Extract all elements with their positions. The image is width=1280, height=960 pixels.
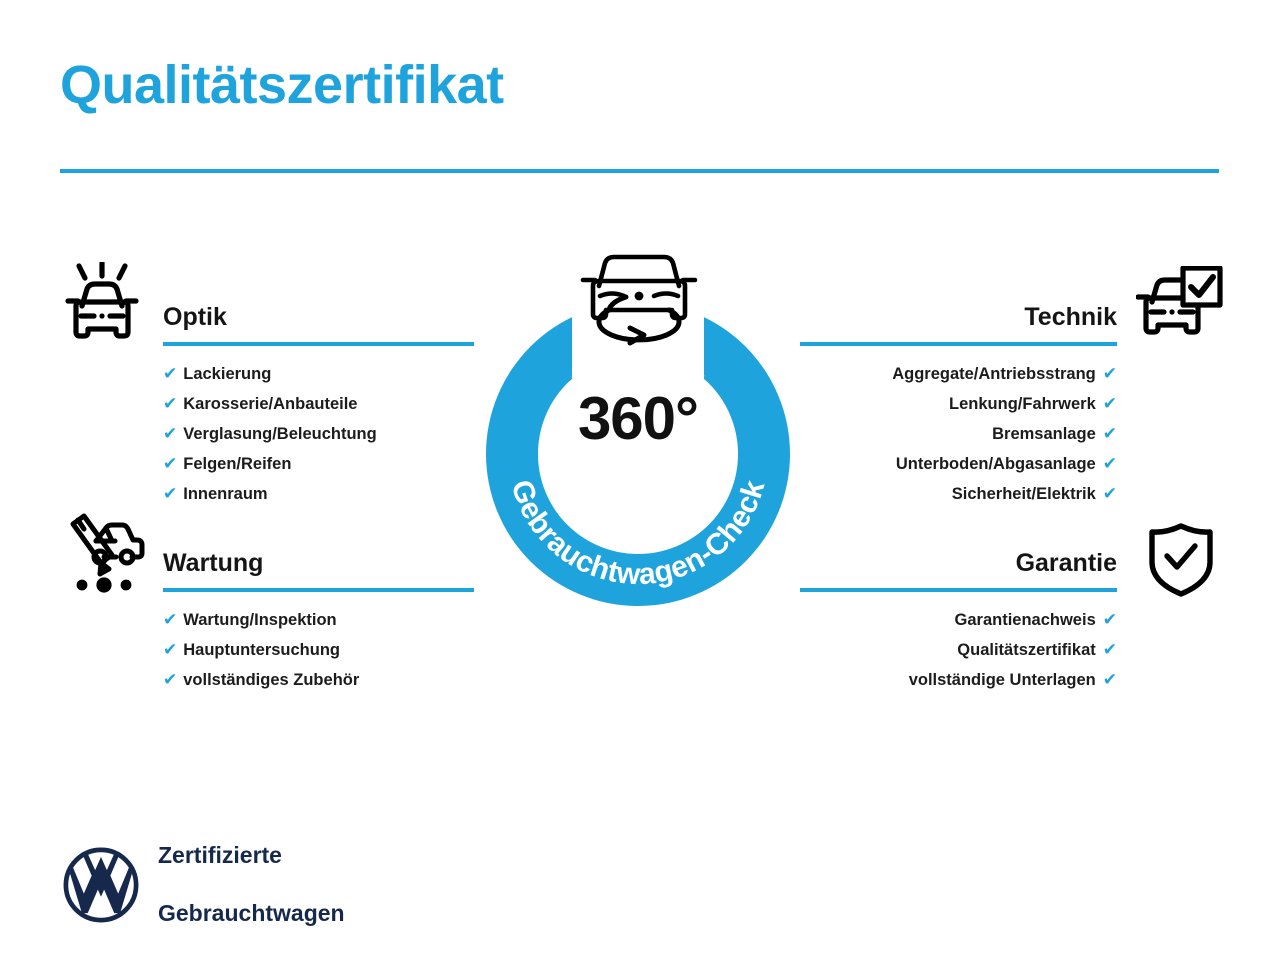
list-item-label: Lackierung bbox=[183, 365, 271, 383]
vw-wordmark: Zertifizierte Gebrauchtwagen bbox=[158, 812, 345, 957]
check-icon: ✔ bbox=[163, 454, 177, 473]
check-icon: ✔ bbox=[163, 610, 177, 629]
section-garantie-list: Garantienachweis✔ Qualitätszertifikat✔ v… bbox=[800, 605, 1117, 695]
section-optik-list: ✔Lackierung ✔Karosserie/Anbauteile ✔Verg… bbox=[163, 359, 474, 509]
list-item: Garantienachweis✔ bbox=[800, 605, 1117, 635]
check-icon: ✔ bbox=[1103, 484, 1117, 503]
list-item-label: Wartung/Inspektion bbox=[183, 611, 336, 629]
check-icon: ✔ bbox=[1103, 670, 1117, 689]
check-icon: ✔ bbox=[1103, 394, 1117, 413]
list-item: ✔Verglasung/Beleuchtung bbox=[163, 419, 474, 449]
section-garantie-divider bbox=[800, 588, 1117, 592]
list-item: ✔Wartung/Inspektion bbox=[163, 605, 474, 635]
volkswagen-logo bbox=[62, 846, 140, 924]
list-item: Aggregate/Antriebsstrang✔ bbox=[800, 359, 1117, 389]
section-garantie-title: Garantie bbox=[800, 546, 1117, 580]
section-technik: Technik Aggregate/Antriebsstrang✔ Lenkun… bbox=[800, 300, 1117, 509]
badge-arc-text: Gebrauchtwagen-Check bbox=[504, 476, 771, 592]
section-optik: Optik ✔Lackierung ✔Karosserie/Anbauteile… bbox=[163, 300, 474, 509]
list-item: Unterboden/Abgasanlage✔ bbox=[800, 449, 1117, 479]
check-icon: ✔ bbox=[163, 424, 177, 443]
list-item: ✔Lackierung bbox=[163, 359, 474, 389]
section-wartung: Wartung ✔Wartung/Inspektion ✔Hauptunters… bbox=[163, 546, 474, 695]
section-technik-list: Aggregate/Antriebsstrang✔ Lenkung/Fahrwe… bbox=[800, 359, 1117, 509]
car-shine-icon bbox=[58, 262, 146, 351]
section-wartung-list: ✔Wartung/Inspektion ✔Hauptuntersuchung ✔… bbox=[163, 605, 474, 695]
list-item-label: Lenkung/Fahrwerk bbox=[949, 395, 1096, 413]
section-technik-header: Technik bbox=[800, 300, 1117, 346]
list-item: Qualitätszertifikat✔ bbox=[800, 635, 1117, 665]
check-icon: ✔ bbox=[1103, 424, 1117, 443]
list-item: ✔vollständiges Zubehör bbox=[163, 665, 474, 695]
list-item-label: Karosserie/Anbauteile bbox=[183, 395, 357, 413]
list-item: ✔Felgen/Reifen bbox=[163, 449, 474, 479]
list-item-label: Innenraum bbox=[183, 485, 267, 503]
list-item-label: Felgen/Reifen bbox=[183, 455, 291, 473]
section-optik-header: Optik bbox=[163, 300, 474, 346]
check-icon: ✔ bbox=[163, 484, 177, 503]
car-checkbox-icon bbox=[1136, 266, 1224, 349]
section-technik-divider bbox=[800, 342, 1117, 346]
vw-certified-lockup: Zertifizierte Gebrauchtwagen bbox=[62, 812, 345, 957]
check-icon: ✔ bbox=[163, 670, 177, 689]
shield-check-icon bbox=[1148, 522, 1214, 603]
section-wartung-divider bbox=[163, 588, 474, 592]
list-item: ✔Karosserie/Anbauteile bbox=[163, 389, 474, 419]
check-icon: ✔ bbox=[163, 364, 177, 383]
list-item-label: Garantienachweis bbox=[955, 611, 1096, 629]
check-icon: ✔ bbox=[1103, 364, 1117, 383]
header-divider bbox=[60, 169, 1219, 173]
check-icon: ✔ bbox=[1103, 454, 1117, 473]
list-item: vollständige Unterlagen✔ bbox=[800, 665, 1117, 695]
list-item-label: Qualitätszertifikat bbox=[957, 641, 1095, 659]
section-garantie: Garantie Garantienachweis✔ Qualitätszert… bbox=[800, 546, 1117, 695]
list-item-label: Hauptuntersuchung bbox=[183, 641, 340, 659]
vw-wordmark-line2: Gebrauchtwagen bbox=[158, 899, 345, 928]
gebrauchtwagen-check-badge: Gebrauchtwagen-Check 360° bbox=[462, 250, 814, 616]
list-item-label: Verglasung/Beleuchtung bbox=[183, 425, 376, 443]
list-item: ✔Innenraum bbox=[163, 479, 474, 509]
badge-value: 360° bbox=[462, 384, 814, 453]
list-item-label: Sicherheit/Elektrik bbox=[952, 485, 1096, 503]
check-icon: ✔ bbox=[1103, 610, 1117, 629]
list-item: Sicherheit/Elektrik✔ bbox=[800, 479, 1117, 509]
list-item: ✔Hauptuntersuchung bbox=[163, 635, 474, 665]
page-title: Qualitätszertifikat bbox=[60, 56, 504, 115]
pencil-car-service-icon bbox=[60, 512, 148, 601]
section-technik-title: Technik bbox=[800, 300, 1117, 334]
section-wartung-title: Wartung bbox=[163, 546, 474, 580]
section-optik-divider bbox=[163, 342, 474, 346]
section-wartung-header: Wartung bbox=[163, 546, 474, 592]
check-icon: ✔ bbox=[163, 640, 177, 659]
list-item-label: vollständige Unterlagen bbox=[909, 671, 1096, 689]
list-item-label: Unterboden/Abgasanlage bbox=[896, 455, 1096, 473]
car-rotate-360-icon bbox=[572, 250, 706, 350]
check-icon: ✔ bbox=[1103, 640, 1117, 659]
section-optik-title: Optik bbox=[163, 300, 474, 334]
section-garantie-header: Garantie bbox=[800, 546, 1117, 592]
list-item: Lenkung/Fahrwerk✔ bbox=[800, 389, 1117, 419]
list-item-label: Bremsanlage bbox=[992, 425, 1096, 443]
list-item: Bremsanlage✔ bbox=[800, 419, 1117, 449]
vw-wordmark-line1: Zertifizierte bbox=[158, 841, 345, 870]
badge-arc-tspan: Gebrauchtwagen-Check bbox=[504, 476, 771, 592]
list-item-label: vollständiges Zubehör bbox=[183, 671, 359, 689]
list-item-label: Aggregate/Antriebsstrang bbox=[892, 365, 1096, 383]
check-icon: ✔ bbox=[163, 394, 177, 413]
